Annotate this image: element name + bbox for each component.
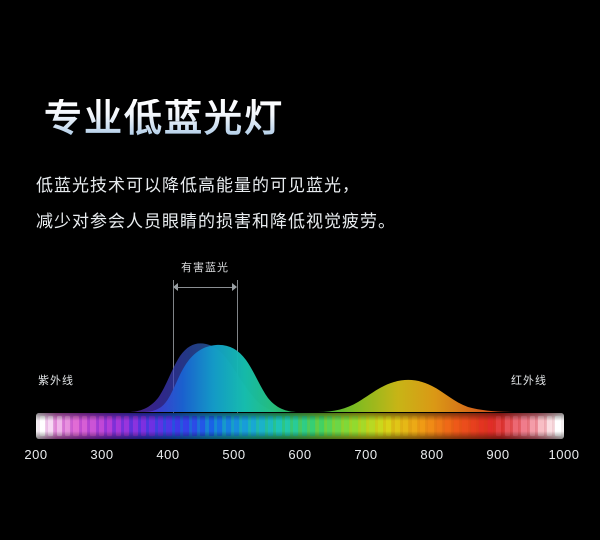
spectrum-segment (344, 416, 349, 436)
spectrum-segment (141, 416, 146, 436)
spectrum-segment (302, 416, 307, 436)
spectrum-segment (521, 416, 526, 436)
low-blue-light-slide: 专业低蓝光灯 低蓝光技术可以降低高能量的可见蓝光， 减少对参会人员眼睛的损害和降… (0, 0, 600, 540)
spectrum-segment (65, 416, 70, 436)
visible-spectrum-bar (36, 413, 564, 439)
spectrum-segment (183, 416, 188, 436)
spectrum-segment (234, 416, 239, 436)
spectrum-segment (547, 416, 552, 436)
axis-tick-800: 800 (420, 447, 443, 462)
spectrum-segment (437, 416, 442, 436)
spectrum-segment (268, 416, 273, 436)
spectrum-segment (454, 416, 459, 436)
spectrum-segment (259, 416, 264, 436)
spectrum-segment (242, 416, 247, 436)
spectrum-segment (99, 416, 104, 436)
curve-infrared (318, 380, 518, 412)
spectrum-segment (555, 416, 560, 436)
spectrum-segment (276, 416, 281, 436)
axis-tick-900: 900 (486, 447, 509, 462)
spectrum-segment (133, 416, 138, 436)
spectrum-segment (369, 416, 374, 436)
spectrum-segment (40, 416, 45, 436)
page-title: 专业低蓝光灯 (44, 99, 284, 141)
spectrum-segment (513, 416, 518, 436)
spectrum-segment (200, 416, 205, 436)
spectrum-segment (505, 416, 510, 436)
spectrum-segment (319, 416, 324, 436)
spectrum-segment (116, 416, 121, 436)
spectrum-segment (496, 416, 501, 436)
axis-tick-200: 200 (24, 447, 47, 462)
spectrum-segment (293, 416, 298, 436)
spectrum-segment (386, 416, 391, 436)
spectrum-segment (479, 416, 484, 436)
spectrum-segment (166, 416, 171, 436)
spectrum-segment (335, 416, 340, 436)
spectrum-segment (57, 416, 62, 436)
axis-tick-1000: 1000 (549, 447, 580, 462)
spectrum-segment (217, 416, 222, 436)
spectrum-segment (420, 416, 425, 436)
spectrum-segment (327, 416, 332, 436)
spectrum-segment (310, 416, 315, 436)
spectrum-segment (428, 416, 433, 436)
spectrum-bars (36, 413, 564, 439)
axis-tick-600: 600 (288, 447, 311, 462)
spectrum-segment (378, 416, 383, 436)
spectrum-segment (175, 416, 180, 436)
spectrum-segment (82, 416, 87, 436)
spectrum-segment (538, 416, 543, 436)
axis-tick-700: 700 (354, 447, 377, 462)
axis-tick-300: 300 (90, 447, 113, 462)
spectrum-segment (226, 416, 231, 436)
spectrum-segment (149, 416, 154, 436)
spectrum-segment (462, 416, 467, 436)
subtitle-line-1: 低蓝光技术可以降低高能量的可见蓝光， (36, 171, 360, 196)
spectrum-segment (48, 416, 53, 436)
spectrum-segment (251, 416, 256, 436)
wavelength-axis: 2003004005006007008009001000 (36, 447, 564, 467)
spectrum-segment (403, 416, 408, 436)
spectrum-segment (73, 416, 78, 436)
spectrum-segment (158, 416, 163, 436)
subtitle-line-2: 减少对参会人员眼睛的损害和降低视觉疲劳。 (36, 207, 396, 232)
spectrum-segment (209, 416, 214, 436)
spectrum-segment (530, 416, 535, 436)
axis-tick-400: 400 (156, 447, 179, 462)
spectrum-segment (395, 416, 400, 436)
spectrum-segment (445, 416, 450, 436)
axis-tick-500: 500 (222, 447, 245, 462)
spectrum-segment (488, 416, 493, 436)
spectrum-segment (90, 416, 95, 436)
spectrum-segment (107, 416, 112, 436)
spectrum-segment (412, 416, 417, 436)
spectrum-segment (361, 416, 366, 436)
spectrum-segment (471, 416, 476, 436)
spectrum-segment (352, 416, 357, 436)
spectrum-segment (192, 416, 197, 436)
spectrum-segment (124, 416, 129, 436)
spectrum-segment (285, 416, 290, 436)
